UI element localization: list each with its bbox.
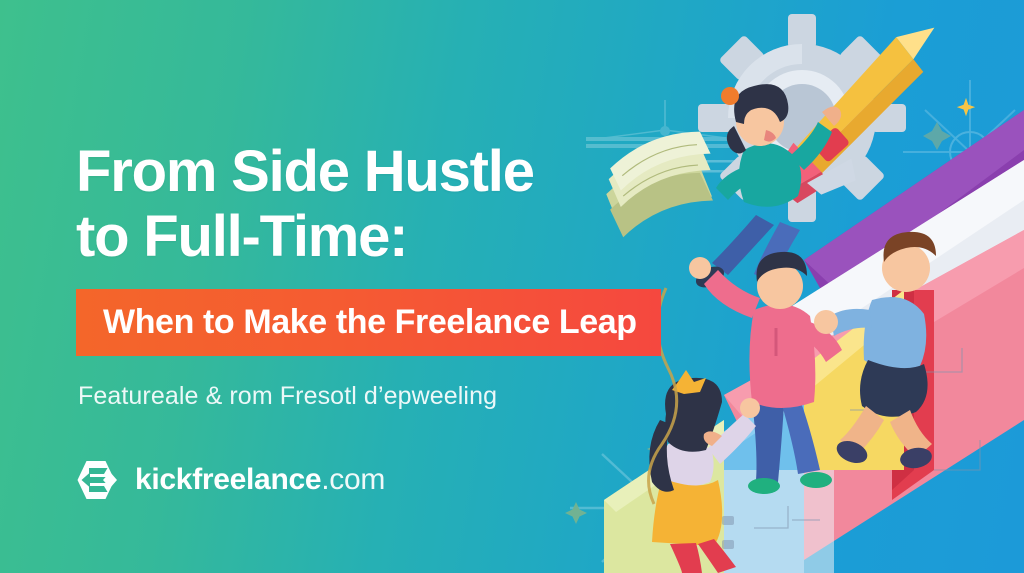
brand-name: kickfreelance (135, 463, 321, 496)
brand-wordmark: kickfreelance.com (135, 465, 385, 495)
text-column: From Side Hustle to Full-Time: When to M… (76, 140, 716, 411)
headline-line-2: to Full-Time: (76, 205, 716, 270)
brand-tld: .com (321, 463, 385, 496)
page-title: From Side Hustle to Full-Time: (76, 140, 716, 270)
hexagon-arrow-icon (76, 459, 122, 501)
tagline: Featureale & rom Fresotl d’epweeling (78, 382, 716, 411)
subtitle-highlight-bar: When to Make the Freelance Leap (76, 289, 661, 356)
brand-logo[interactable]: kickfreelance.com (76, 459, 385, 501)
highlight-wrapper: When to Make the Freelance Leap (76, 289, 716, 356)
headline-line-1: From Side Hustle (76, 139, 534, 204)
blog-banner: From Side Hustle to Full-Time: When to M… (0, 0, 1024, 573)
